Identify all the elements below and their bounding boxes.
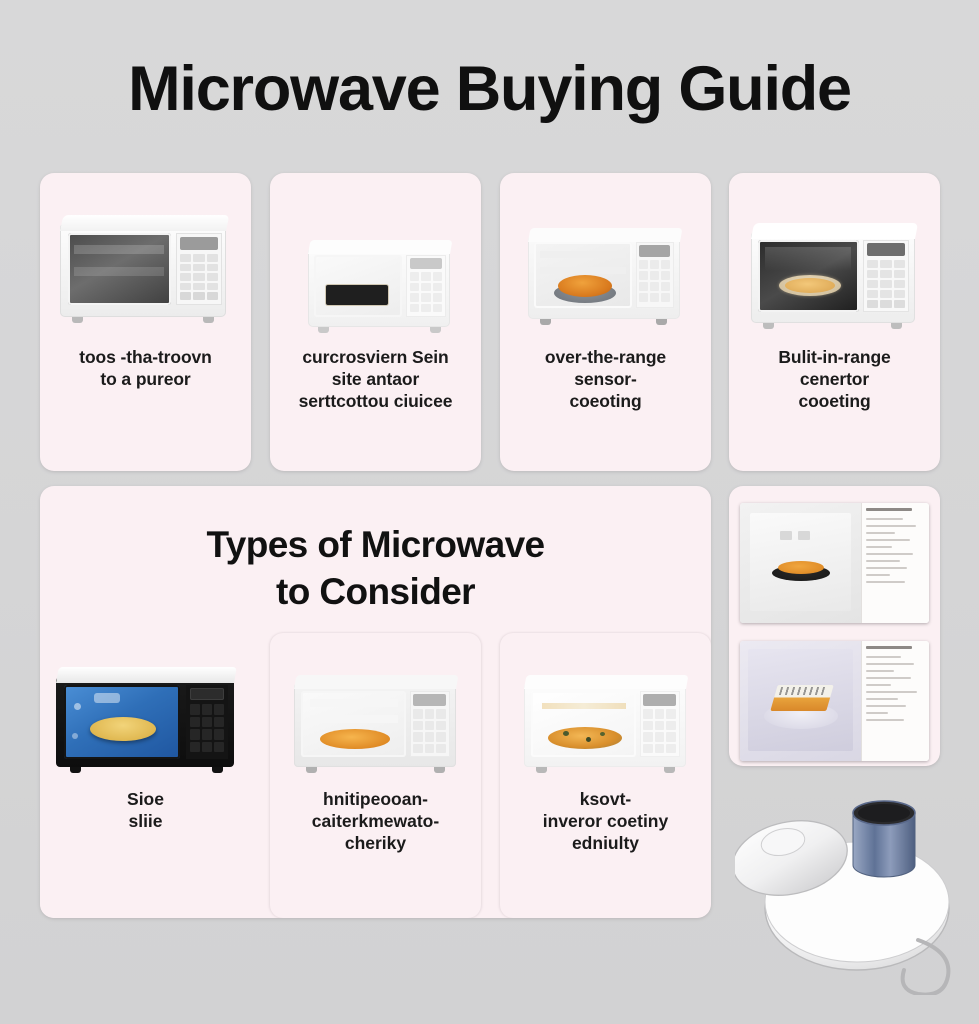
- caption-line: hnitipeooan-: [278, 788, 473, 810]
- card-caption: Bulit-in-range cenertor cooeting: [739, 346, 930, 412]
- spec-sheet-document: [861, 503, 929, 623]
- doc-line: [866, 670, 894, 672]
- doc-line: [866, 656, 901, 658]
- card-caption: toos -tha-troovn to a pureor: [50, 346, 241, 390]
- doc-line: [866, 539, 910, 541]
- doc-line: [866, 581, 905, 583]
- microwave-interior-pie-image: [740, 503, 861, 623]
- caption-line: sliie: [48, 810, 243, 832]
- spec-sheet-document: [861, 641, 929, 761]
- doc-line: [866, 525, 916, 527]
- caption-line: cheriky: [278, 832, 473, 854]
- doc-line: [866, 719, 904, 721]
- microwave-interior-with-cake-spec-sheet-panel[interactable]: [740, 641, 929, 761]
- type-card-inverter[interactable]: ksovt- inveror coetiny edniulty: [500, 633, 711, 918]
- doc-line: [866, 705, 906, 707]
- doc-line: [866, 546, 892, 548]
- caption-line: to a pureor: [50, 368, 241, 390]
- built-in-microwave-dark-interior-pizza-image: [737, 187, 932, 342]
- card-caption: hnitipeooan- caiterkmewato- cheriky: [278, 788, 473, 854]
- doc-line: [866, 560, 900, 562]
- doc-line: [866, 677, 911, 679]
- doc-line: [866, 663, 914, 665]
- caption-line: site antaor: [280, 368, 471, 390]
- guide-card-compact[interactable]: curcrosviern Sein site antaor serttcotto…: [270, 173, 481, 471]
- caption-line: cooeting: [739, 390, 930, 412]
- section-title: Types of Microwave to Consider: [80, 521, 671, 616]
- type-card-multipurpose[interactable]: hnitipeooan- caiterkmewato- cheriky: [270, 633, 481, 918]
- compact-microwave-white-tray-image: [278, 187, 473, 342]
- section-title-line: Types of Microwave: [80, 521, 671, 568]
- section-title-line: to Consider: [80, 568, 671, 615]
- doc-line: [866, 712, 888, 714]
- page-title: Microwave Buying Guide: [0, 58, 979, 121]
- caption-line: toos -tha-troovn: [50, 346, 241, 368]
- types-section-card: Types of Microwave to Consider: [40, 486, 711, 918]
- caption-line: edniulty: [508, 832, 703, 854]
- caption-line: Bulit-in-range: [739, 346, 930, 368]
- guide-card-over-the-range[interactable]: over-the-range sensor- coeoting: [500, 173, 711, 471]
- caption-line: inveror coetiny: [508, 810, 703, 832]
- white-microwave-mixed-food-image: [508, 647, 703, 787]
- grey-microwave-orange-food-image: [278, 647, 473, 787]
- caption-line: curcrosviern Sein: [280, 346, 471, 368]
- microwave-interior-with-pie-spec-sheet-panel[interactable]: [740, 503, 929, 623]
- card-caption: over-the-range sensor- coeoting: [510, 346, 701, 412]
- guide-card-built-in[interactable]: Bulit-in-range cenertor cooeting: [729, 173, 940, 471]
- caption-line: cenertor: [739, 368, 930, 390]
- card-caption: Sioe sliie: [48, 788, 243, 832]
- doc-line: [866, 532, 896, 534]
- guide-card-countertop[interactable]: toos -tha-troovn to a pureor: [40, 173, 251, 471]
- card-caption: ksovt- inveror coetiny edniulty: [508, 788, 703, 854]
- white-pan-with-blue-rimmed-cup-image: [735, 780, 960, 995]
- doc-heading-bar: [866, 646, 912, 649]
- doc-line: [866, 574, 890, 576]
- doc-line: [866, 698, 898, 700]
- doc-line: [866, 518, 903, 520]
- microwave-interior-cake-image: [740, 641, 861, 761]
- doc-heading-bar: [866, 508, 912, 511]
- poster-background: Microwave Buying Guide: [0, 0, 979, 1024]
- black-microwave-blue-interior-plate-image: [48, 647, 243, 787]
- type-card-countertop[interactable]: Sioe sliie: [40, 633, 251, 918]
- spec-panels-card: [729, 486, 940, 766]
- doc-line: [866, 567, 907, 569]
- caption-line: serttcottou ciuicee: [280, 390, 471, 412]
- countertop-microwave-white-dark-door-image: [48, 187, 243, 342]
- card-caption: curcrosviern Sein site antaor serttcotto…: [280, 346, 471, 412]
- caption-line: coeoting: [510, 390, 701, 412]
- doc-line: [866, 553, 913, 555]
- caption-line: over-the-range: [510, 346, 701, 368]
- caption-line: sensor-: [510, 368, 701, 390]
- caption-line: ksovt-: [508, 788, 703, 810]
- caption-line: Sioe: [48, 788, 243, 810]
- microwave-with-plate-of-food-image: [508, 187, 703, 342]
- doc-line: [866, 691, 917, 693]
- doc-line: [866, 684, 891, 686]
- cookware-illustration-svg: [735, 780, 960, 995]
- caption-line: caiterkmewato-: [278, 810, 473, 832]
